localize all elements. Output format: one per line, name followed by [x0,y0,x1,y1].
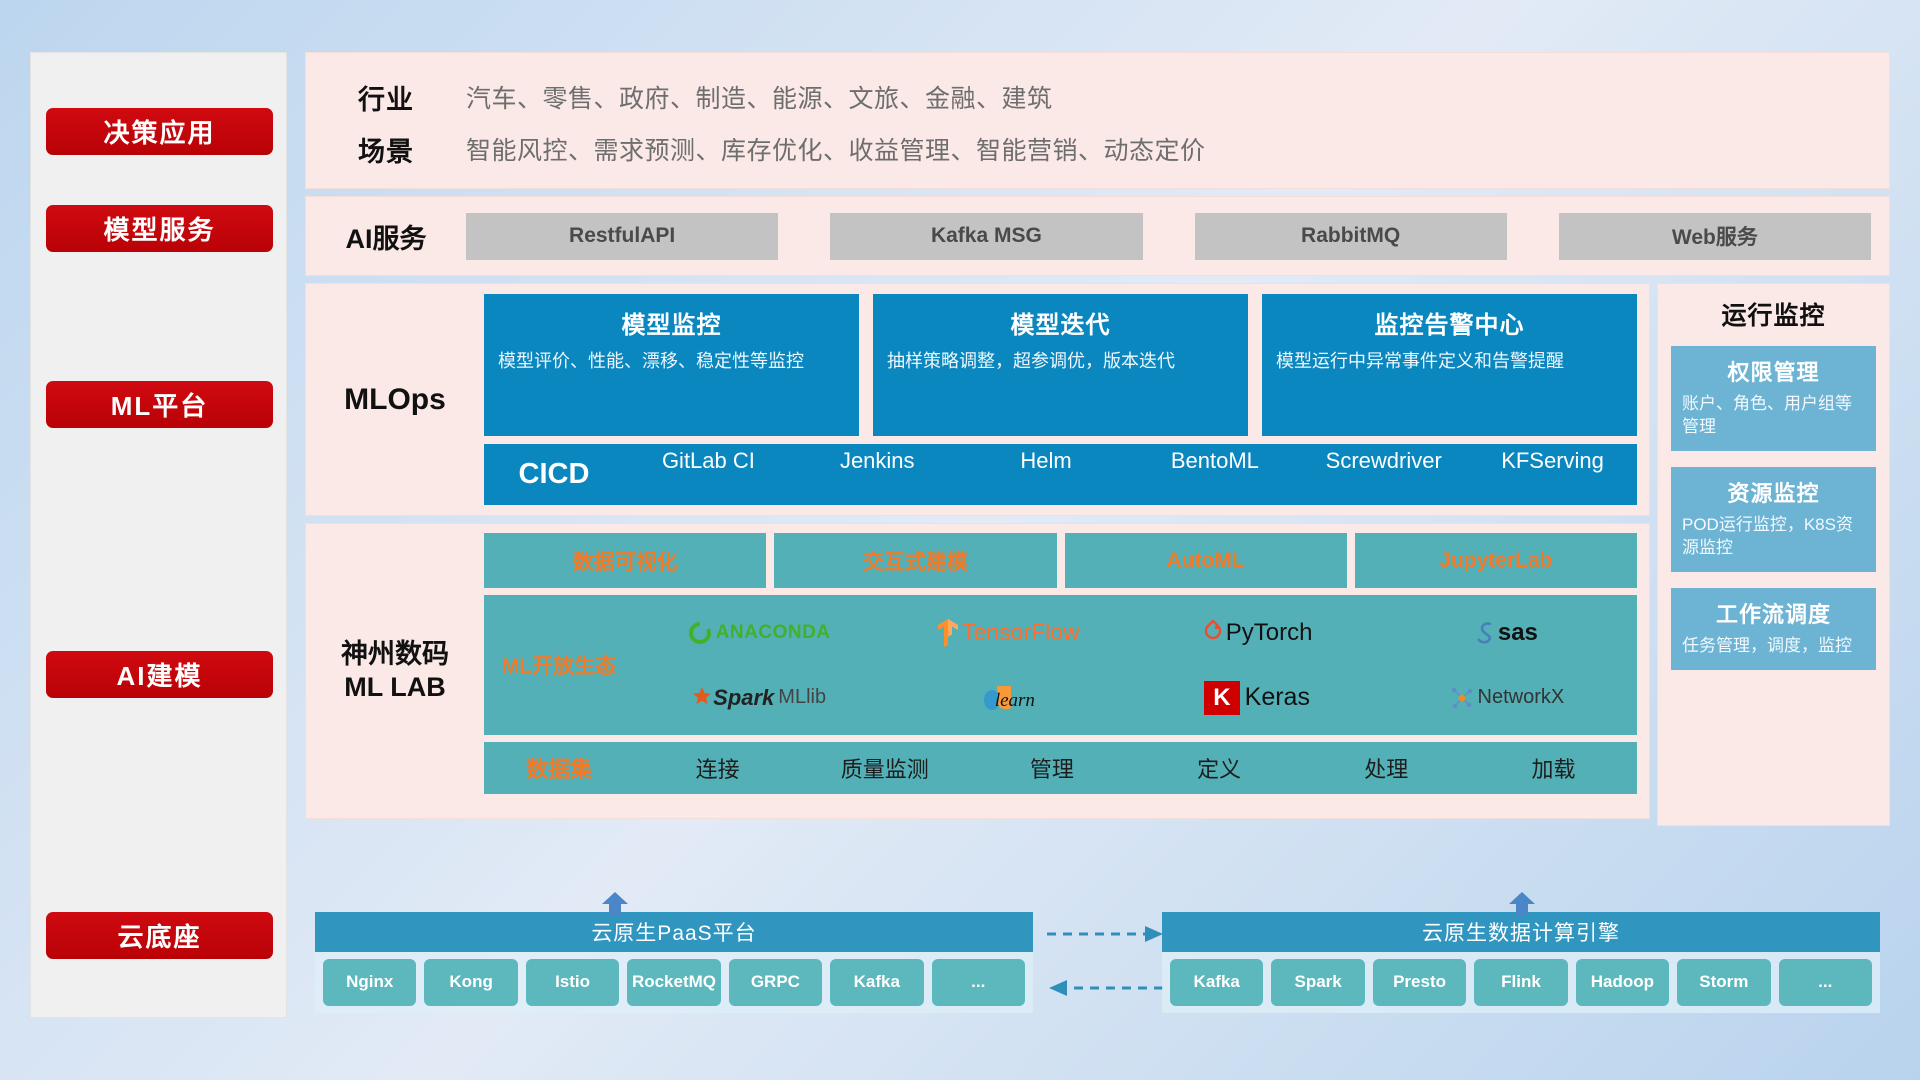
card-desc: 任务管理，调度，监控 [1682,635,1865,658]
up-arrow-icon [1502,892,1542,916]
cicd-bar: CICD GitLab CI Jenkins Helm BentoML Scre… [484,444,1637,505]
ml-open-ecosystem-label: ML开放生态 [484,650,634,680]
rail-label: 决策应用 [103,113,215,150]
engine-chip-storm[interactable]: Storm [1677,959,1770,1006]
sas-logo: sas [1382,601,1631,664]
pytorch-text: PyTorch [1226,619,1313,647]
ml-lab-label-line2: ML LAB [344,671,446,704]
paas-chip-rocketmq[interactable]: RocketMQ [627,959,720,1006]
ai-service-restful-api[interactable]: RestfulAPI [466,213,778,260]
card-desc: 模型运行中异常事件定义和告警提醒 [1276,349,1623,374]
mlops-card-list: 模型监控 模型评价、性能、漂移、稳定性等监控 模型迭代 抽样策略调整，超参调优，… [484,294,1637,436]
chip-data-visualization[interactable]: 数据可视化 [484,533,766,588]
chip-jupyterlab[interactable]: JupyterLab [1355,533,1637,588]
card-title: 权限管理 [1682,355,1865,387]
mlops-card-alert-center[interactable]: 监控告警中心 模型运行中异常事件定义和告警提醒 [1262,294,1637,436]
ml-lab-label-line1: 神州数码 [341,638,449,671]
dataset-item-define[interactable]: 定义 [1136,752,1303,784]
card-title: 工作流调度 [1682,597,1865,629]
sas-text: sas [1498,619,1538,647]
card-desc: 抽样策略调整，超参调优，版本迭代 [887,349,1234,374]
chip-automl[interactable]: AutoML [1065,533,1347,588]
ml-lab-label: 神州数码 ML LAB [306,533,484,809]
pytorch-logo: PyTorch [1133,601,1382,664]
cloud-paas-header: 云原生PaaS平台 [315,912,1033,952]
paas-chip-grpc[interactable]: GRPC [729,959,822,1006]
chip-interactive-modeling[interactable]: 交互式建模 [774,533,1056,588]
dataset-bar: 数据集 连接 质量监测 管理 定义 处理 加载 [484,742,1637,794]
ai-service-rabbitmq[interactable]: RabbitMQ [1195,213,1507,260]
paas-chip-kafka[interactable]: Kafka [830,959,923,1006]
ml-lab-tool-chips: 数据可视化 交互式建模 AutoML JupyterLab [484,533,1637,588]
platform-column: MLOps 模型监控 模型评价、性能、漂移、稳定性等监控 模型迭代 抽样策略调整… [305,283,1650,833]
ai-service-label: AI服务 [306,217,466,256]
spark-word: Spark [713,685,774,711]
card-desc: 模型评价、性能、漂移、稳定性等监控 [498,349,845,374]
cloud-data-engine-group: 云原生数据计算引擎 Kafka Spark Presto Flink Hadoo… [1162,912,1880,1013]
keras-text: Keras [1245,683,1310,712]
rail-item-ml-platform[interactable]: ML平台 [46,381,273,428]
ecosystem-logo-grid: ANACONDA TensorFlow PyTorch [634,595,1637,735]
cloud-paas-chips: Nginx Kong Istio RocketMQ GRPC Kafka ... [315,952,1033,1013]
paas-chip-istio[interactable]: Istio [526,959,619,1006]
ai-service-band: AI服务 RestfulAPI Kafka MSG RabbitMQ Web服务 [305,196,1890,276]
up-arrow-icon [595,892,635,916]
scenario-label: 场景 [306,130,466,169]
paas-chip-kong[interactable]: Kong [424,959,517,1006]
rail-label: AI建模 [116,656,202,693]
card-title: 监控告警中心 [1276,305,1623,340]
card-title: 模型迭代 [887,305,1234,340]
runtime-monitor-band: 运行监控 权限管理 账户、角色、用户组等管理 资源监控 POD运行监控，K8S资… [1657,283,1890,826]
scenario-values: 智能风控、需求预测、库存优化、收益管理、智能营销、动态定价 [466,131,1206,167]
runtime-monitor-column: 运行监控 权限管理 账户、角色、用户组等管理 资源监控 POD运行监控，K8S资… [1657,283,1890,833]
engine-chip-kafka[interactable]: Kafka [1170,959,1263,1006]
scikit-learn-text: learn [995,690,1035,712]
platform-and-monitor-wrapper: MLOps 模型监控 模型评价、性能、漂移、稳定性等监控 模型迭代 抽样策略调整… [305,283,1890,833]
ai-service-web[interactable]: Web服务 [1559,213,1871,260]
card-desc: 账户、角色、用户组等管理 [1682,393,1865,439]
card-title: 模型监控 [498,305,845,340]
ai-service-kafka-msg[interactable]: Kafka MSG [830,213,1142,260]
rail-item-cloud-base[interactable]: 云底座 [46,912,273,959]
cicd-item-screwdriver[interactable]: Screwdriver [1299,444,1468,504]
rail-label: ML平台 [111,386,209,423]
card-title: 资源监控 [1682,476,1865,508]
anaconda-logo: ANACONDA [634,601,883,664]
rail-label: 云底座 [117,917,201,954]
keras-k-mark: K [1204,681,1239,715]
cicd-item-jenkins[interactable]: Jenkins [793,444,962,504]
cicd-item-bentoml[interactable]: BentoML [1130,444,1299,504]
engine-chip-presto[interactable]: Presto [1373,959,1466,1006]
networkx-logo: NetworkX [1382,666,1631,729]
rail-item-ai-modeling[interactable]: AI建模 [46,651,273,698]
cloud-foundation-section: 云原生PaaS平台 Nginx Kong Istio RocketMQ GRPC… [305,890,1890,1020]
ml-open-ecosystem-block: ML开放生态 ANACONDA TensorFlow [484,595,1637,735]
industry-label: 行业 [306,78,466,117]
cicd-item-gitlab-ci[interactable]: GitLab CI [624,444,793,504]
ecosystem-logo-row-2: Spark MLlib learn K Keras [634,666,1631,729]
tensorflow-text: TensorFlow [962,619,1080,646]
cicd-title: CICD [484,458,624,491]
engine-chip-spark[interactable]: Spark [1271,959,1364,1006]
paas-chip-nginx[interactable]: Nginx [323,959,416,1006]
engine-chip-hadoop[interactable]: Hadoop [1576,959,1669,1006]
runtime-monitor-title: 运行监控 [1671,296,1876,332]
monitor-card-permission[interactable]: 权限管理 账户、角色、用户组等管理 [1671,346,1876,451]
rail-item-decision-apps[interactable]: 决策应用 [46,108,273,155]
dataset-item-connect[interactable]: 连接 [634,752,801,784]
ai-service-items: RestfulAPI Kafka MSG RabbitMQ Web服务 [466,213,1889,260]
mlops-band: MLOps 模型监控 模型评价、性能、漂移、稳定性等监控 模型迭代 抽样策略调整… [305,283,1650,516]
spark-mllib-logo: Spark MLlib [634,666,883,729]
industry-values: 汽车、零售、政府、制造、能源、文旅、金融、建筑 [466,79,1053,115]
paas-chip-more[interactable]: ... [932,959,1025,1006]
scenario-row: 场景 智能风控、需求预测、库存优化、收益管理、智能营销、动态定价 [306,123,1889,175]
ecosystem-logo-row-1: ANACONDA TensorFlow PyTorch [634,601,1631,664]
engine-chip-more[interactable]: ... [1779,959,1872,1006]
keras-logo: K Keras [1133,666,1382,729]
mlops-label: MLOps [306,294,484,505]
left-stage-rail: 决策应用 模型服务 ML平台 AI建模 云底座 [30,52,287,1018]
mllib-word: MLlib [778,686,826,709]
networkx-text: NetworkX [1478,686,1565,709]
monitor-card-workflow[interactable]: 工作流调度 任务管理，调度，监控 [1671,588,1876,670]
cloud-paas-group: 云原生PaaS平台 Nginx Kong Istio RocketMQ GRPC… [315,912,1033,1013]
scikit-learn-logo: learn [883,666,1132,729]
mlops-card-model-monitoring[interactable]: 模型监控 模型评价、性能、漂移、稳定性等监控 [484,294,859,436]
industry-row: 行业 汽车、零售、政府、制造、能源、文旅、金融、建筑 [306,71,1889,123]
monitor-card-resource[interactable]: 资源监控 POD运行监控，K8S资源监控 [1671,467,1876,572]
cloud-data-engine-chips: Kafka Spark Presto Flink Hadoop Storm ..… [1162,952,1880,1013]
dataset-item-quality-monitoring[interactable]: 质量监测 [801,752,968,784]
rail-item-model-service[interactable]: 模型服务 [46,205,273,252]
dataset-item-manage[interactable]: 管理 [968,752,1135,784]
ml-lab-band: 神州数码 ML LAB 数据可视化 交互式建模 AutoML JupyterLa… [305,523,1650,819]
rail-label: 模型服务 [103,210,215,247]
tensorflow-logo: TensorFlow [883,601,1132,664]
anaconda-text: ANACONDA [716,622,831,644]
ml-lab-content: 数据可视化 交互式建模 AutoML JupyterLab ML开放生态 ANA… [484,533,1649,809]
main-architecture-column: 行业 汽车、零售、政府、制造、能源、文旅、金融、建筑 场景 智能风控、需求预测、… [305,52,1890,833]
mlops-card-model-iteration[interactable]: 模型迭代 抽样策略调整，超参调优，版本迭代 [873,294,1248,436]
dataset-item-load[interactable]: 加载 [1470,752,1637,784]
decision-apps-band: 行业 汽车、零售、政府、制造、能源、文旅、金融、建筑 场景 智能风控、需求预测、… [305,52,1890,189]
card-desc: POD运行监控，K8S资源监控 [1682,514,1865,560]
cicd-item-helm[interactable]: Helm [962,444,1131,504]
dataset-item-process[interactable]: 处理 [1303,752,1470,784]
mlops-content: 模型监控 模型评价、性能、漂移、稳定性等监控 模型迭代 抽样策略调整，超参调优，… [484,294,1649,505]
dataset-title: 数据集 [484,752,634,784]
engine-chip-flink[interactable]: Flink [1474,959,1567,1006]
cloud-data-engine-header: 云原生数据计算引擎 [1162,912,1880,952]
cicd-item-kfserving[interactable]: KFServing [1468,444,1637,504]
bidirectional-connector-arrows [1045,918,1165,1014]
